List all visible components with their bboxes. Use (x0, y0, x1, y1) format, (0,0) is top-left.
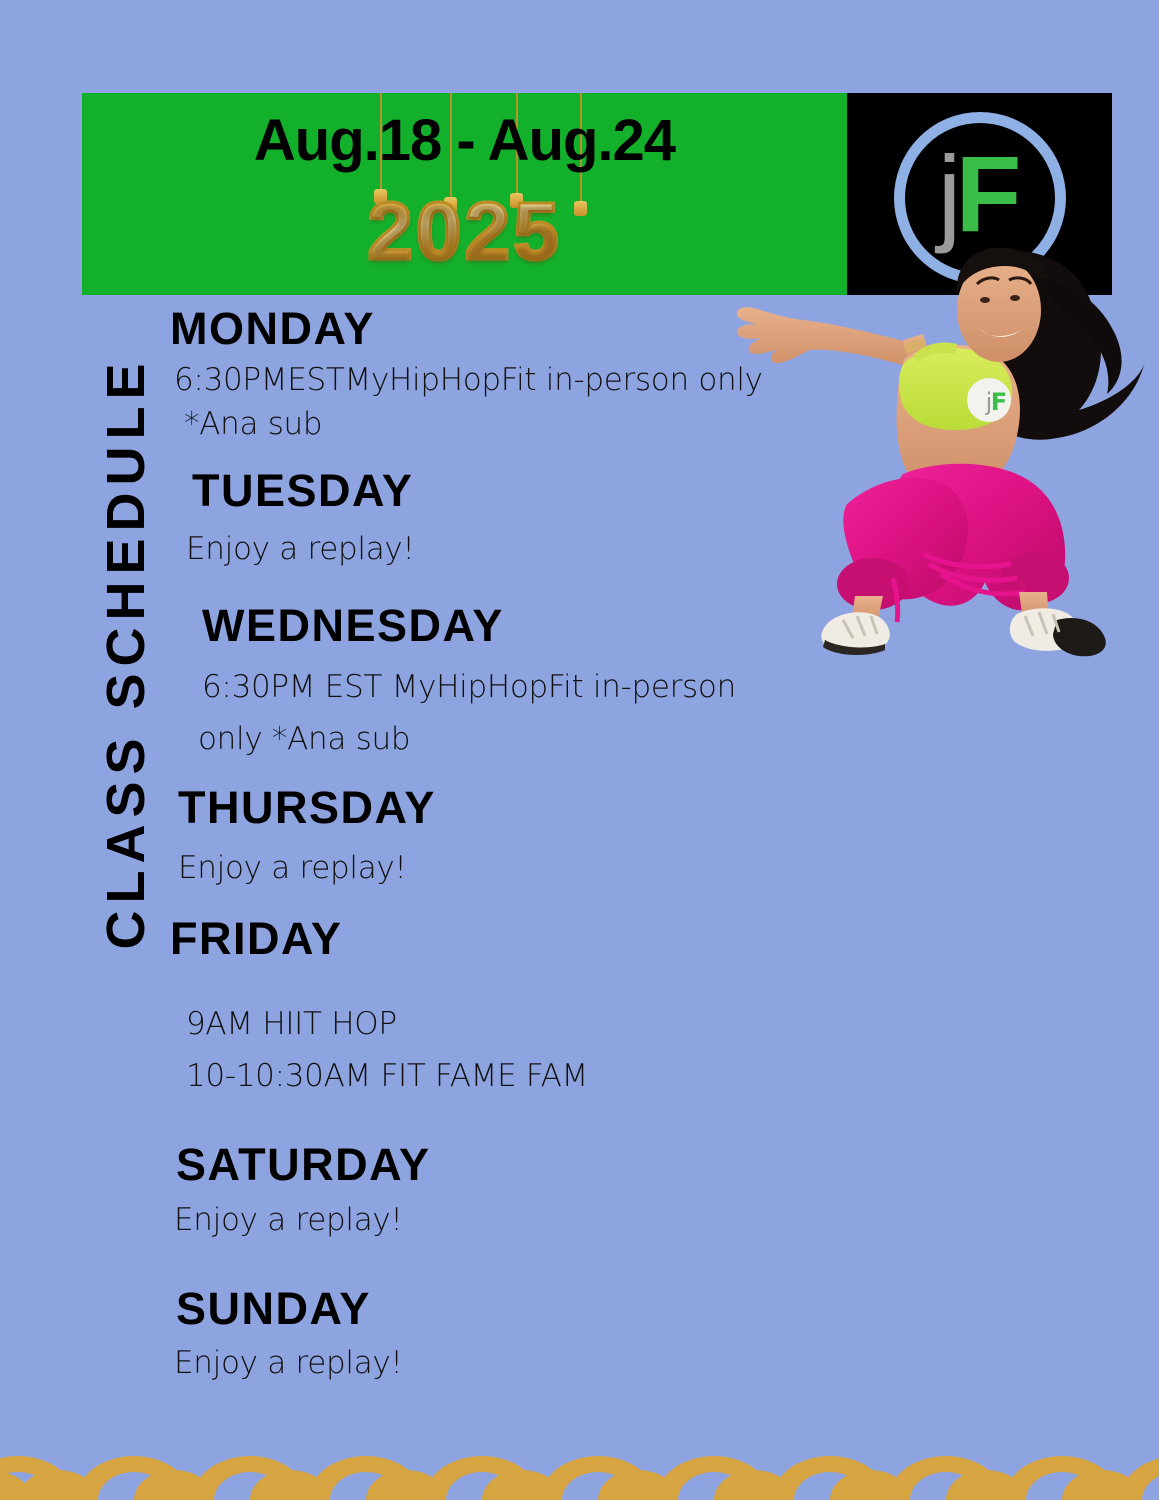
footer-scallop-pattern (0, 1440, 1159, 1500)
day-detail-line: Enjoy a replay! (170, 846, 930, 890)
schedule-list: MONDAY 6:30PMESTMyHipHopFit in-person on… (170, 300, 930, 1389)
day-detail-line: only *Ana sub (170, 717, 930, 761)
day-detail-line: *Ana sub (170, 402, 930, 446)
day-block-friday: FRIDAY 9AM HIIT HOP 10-10:30AM FIT FAME … (170, 910, 930, 1098)
day-heading: SUNDAY (170, 1280, 930, 1338)
day-heading: FRIDAY (170, 910, 930, 968)
day-heading: WEDNESDAY (170, 597, 930, 655)
day-detail-line: 10-10:30AM FIT FAME FAM (170, 1054, 930, 1098)
year-text: 2025 (367, 185, 561, 279)
side-title-class-schedule: CLASS SCHEDULE (95, 333, 157, 973)
day-heading: SATURDAY (170, 1136, 930, 1194)
svg-text:F: F (991, 388, 1007, 416)
brand-logo: jF (847, 93, 1112, 295)
logo-monogram: jF (938, 140, 1022, 248)
day-detail-line: 6:30PMESTMyHipHopFit in-person only (170, 358, 930, 402)
day-block-saturday: SATURDAY Enjoy a replay! (170, 1136, 930, 1242)
day-block-monday: MONDAY 6:30PMESTMyHipHopFit in-person on… (170, 300, 930, 446)
day-block-wednesday: WEDNESDAY 6:30PM EST MyHipHopFit in-pers… (170, 597, 930, 761)
day-detail-line: 9AM HIIT HOP (170, 1002, 930, 1046)
date-range-title: Aug.18 - Aug.24 (82, 107, 847, 174)
logo-letter-f: F (956, 133, 1022, 254)
day-block-tuesday: TUESDAY Enjoy a replay! (170, 462, 930, 572)
day-detail-line: 6:30PM EST MyHipHopFit in-person (170, 665, 930, 709)
day-block-thursday: THURSDAY Enjoy a replay! (170, 779, 930, 891)
day-detail-line: Enjoy a replay! (170, 1341, 930, 1385)
day-heading: THURSDAY (170, 779, 930, 837)
day-block-sunday: SUNDAY Enjoy a replay! (170, 1280, 930, 1386)
day-heading: TUESDAY (170, 462, 930, 520)
year-balloons: 2025 (82, 185, 847, 279)
day-detail-line: Enjoy a replay! (170, 527, 930, 571)
svg-text:j: j (985, 388, 993, 416)
header-banner: Aug.18 - Aug.24 2025 (82, 93, 847, 295)
day-detail-line: Enjoy a replay! (170, 1198, 930, 1242)
class-schedule-poster: Aug.18 - Aug.24 2025 jF CLASS SCHEDULE M… (0, 0, 1159, 1500)
day-heading: MONDAY (170, 300, 930, 358)
